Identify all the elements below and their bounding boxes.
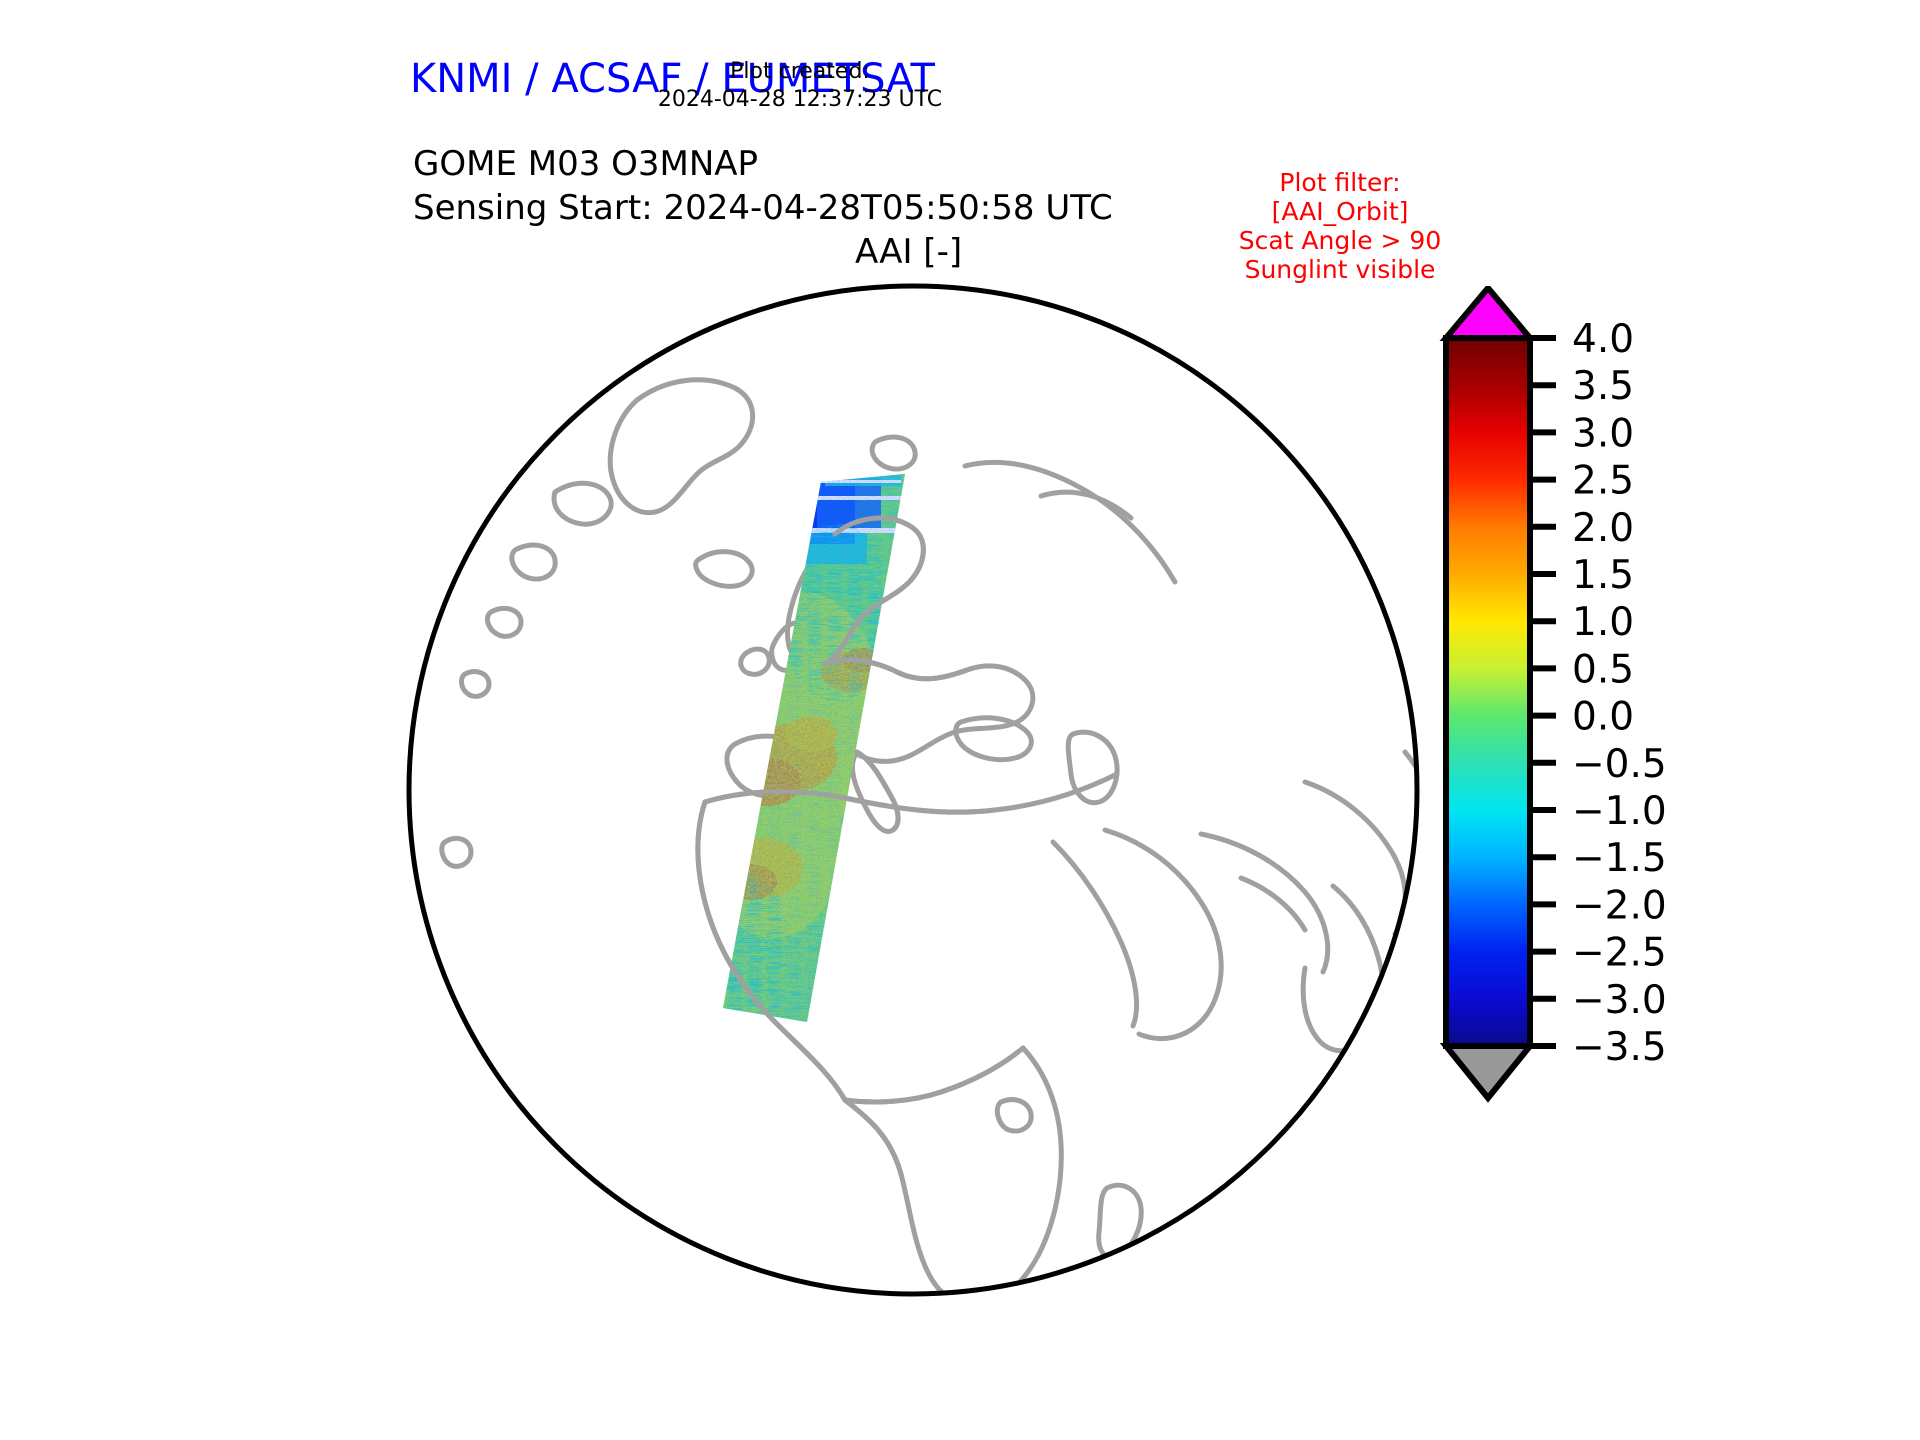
colorbar-under-arrow — [1446, 1046, 1530, 1098]
plot-created-value: 2024-04-28 12:37:23 UTC — [635, 86, 965, 114]
colorbar-over-arrow — [1446, 288, 1530, 338]
colorbar-tick-label: −3.5 — [1572, 1025, 1667, 1070]
colorbar-tick-label: −1.0 — [1572, 789, 1667, 834]
product-info-block: GOME M03 O3MNAP Sensing Start: 2024-04-2… — [413, 142, 1113, 230]
plot-created-block: Plot created: 2024-04-28 12:37:23 UTC — [635, 58, 965, 114]
colorbar: 4.03.53.02.52.01.51.00.50.0−0.5−1.0−1.5−… — [1432, 286, 1852, 1298]
plot-created-label: Plot created: — [635, 58, 965, 86]
colorbar-tick-label: −2.0 — [1572, 883, 1667, 928]
colorbar-tick-label: 2.5 — [1572, 459, 1634, 504]
colorbar-tick-label: 1.0 — [1572, 600, 1634, 645]
colorbar-tick-label: 0.0 — [1572, 695, 1634, 740]
plot-filter-scat-angle: Scat Angle > 90 — [1190, 226, 1490, 255]
quantity-title: AAI [-] — [855, 232, 962, 272]
sensing-start-line: Sensing Start: 2024-04-28T05:50:58 UTC — [413, 186, 1113, 230]
colorbar-gradient — [1446, 338, 1530, 1046]
plot-filter-sunglint: Sunglint visible — [1190, 255, 1490, 284]
globe-map — [405, 282, 1421, 1298]
instrument-line: GOME M03 O3MNAP — [413, 142, 1113, 186]
plot-filter-name: [AAI_Orbit] — [1190, 197, 1490, 226]
colorbar-tick-label: −0.5 — [1572, 742, 1667, 787]
colorbar-tick-label: 0.5 — [1572, 647, 1634, 692]
colorbar-tick-label: 3.5 — [1572, 364, 1634, 409]
colorbar-tick-label: 3.0 — [1572, 411, 1634, 456]
globe-disc — [409, 286, 1417, 1294]
plot-filter-block: Plot filter: [AAI_Orbit] Scat Angle > 90… — [1190, 168, 1490, 284]
colorbar-tick-label: −2.5 — [1572, 931, 1667, 976]
colorbar-tick-label: 2.0 — [1572, 506, 1634, 551]
colorbar-ticks: 4.03.53.02.52.01.51.00.50.0−0.5−1.0−1.5−… — [1530, 317, 1667, 1070]
colorbar-tick-label: 1.5 — [1572, 553, 1634, 598]
plot-filter-label: Plot filter: — [1190, 168, 1490, 197]
colorbar-tick-label: 4.0 — [1572, 317, 1634, 362]
colorbar-tick-label: −1.5 — [1572, 836, 1667, 881]
colorbar-tick-label: −3.0 — [1572, 978, 1667, 1023]
